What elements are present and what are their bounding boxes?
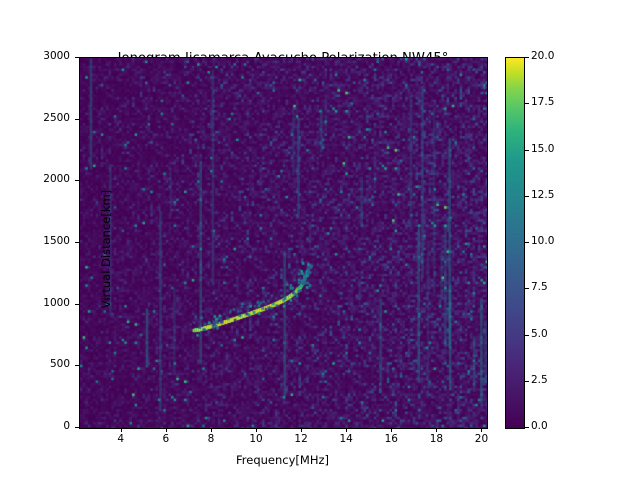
x-tick-label: 20 bbox=[461, 433, 501, 445]
colorbar-tick-label: 2.5 bbox=[531, 374, 548, 386]
y-tick-label: 1000 bbox=[0, 297, 70, 309]
colorbar-tick-label: 7.5 bbox=[531, 281, 548, 293]
x-tick-label: 6 bbox=[146, 433, 186, 445]
colorbar-tick-label: 0.0 bbox=[531, 420, 548, 432]
y-tick-mark bbox=[75, 57, 79, 58]
y-tick-mark bbox=[75, 304, 79, 305]
colorbar-tick-mark bbox=[525, 427, 529, 428]
x-tick-label: 8 bbox=[191, 433, 231, 445]
x-tick-mark bbox=[121, 428, 122, 432]
colorbar-tick-label: 15.0 bbox=[531, 143, 554, 155]
colorbar-tick-mark bbox=[525, 335, 529, 336]
colorbar-tick-label: 5.0 bbox=[531, 328, 548, 340]
ionogram-figure: Ionogram Jicamarca-Ayacucho Polarization… bbox=[0, 0, 640, 480]
x-tick-label: 12 bbox=[281, 433, 321, 445]
y-tick-label: 1500 bbox=[0, 235, 70, 247]
colorbar-tick-mark bbox=[525, 57, 529, 58]
colorbar-tick-mark bbox=[525, 381, 529, 382]
colorbar-tick-mark bbox=[525, 288, 529, 289]
x-tick-mark bbox=[391, 428, 392, 432]
y-tick-label: 500 bbox=[0, 358, 70, 370]
x-tick-label: 16 bbox=[371, 433, 411, 445]
x-tick-label: 4 bbox=[101, 433, 141, 445]
x-tick-label: 14 bbox=[326, 433, 366, 445]
x-tick-label: 10 bbox=[236, 433, 276, 445]
colorbar-tick-mark bbox=[525, 196, 529, 197]
colorbar-tick-label: 17.5 bbox=[531, 96, 554, 108]
y-tick-mark bbox=[75, 242, 79, 243]
x-tick-mark bbox=[256, 428, 257, 432]
y-tick-mark bbox=[75, 180, 79, 181]
x-tick-label: 18 bbox=[416, 433, 456, 445]
x-tick-mark bbox=[211, 428, 212, 432]
y-tick-mark bbox=[75, 365, 79, 366]
y-tick-label: 0 bbox=[0, 420, 70, 432]
y-tick-label: 3000 bbox=[0, 50, 70, 62]
x-tick-mark bbox=[301, 428, 302, 432]
colorbar-tick-mark bbox=[525, 103, 529, 104]
x-tick-mark bbox=[436, 428, 437, 432]
x-tick-mark bbox=[346, 428, 347, 432]
colorbar-tick-label: 10.0 bbox=[531, 235, 554, 247]
plot-area bbox=[79, 57, 488, 429]
echo-trace-overlay bbox=[80, 58, 487, 428]
colorbar-tick-mark bbox=[525, 150, 529, 151]
y-axis-label: Virtual Distance[km] bbox=[99, 64, 113, 434]
colorbar-tick-label: 20.0 bbox=[531, 50, 554, 62]
y-tick-label: 2500 bbox=[0, 112, 70, 124]
y-tick-mark bbox=[75, 427, 79, 428]
y-tick-label: 2000 bbox=[0, 173, 70, 185]
colorbar-tick-mark bbox=[525, 242, 529, 243]
colorbar-tick-label: 12.5 bbox=[531, 189, 554, 201]
y-tick-mark bbox=[75, 119, 79, 120]
x-axis-label: Frequency[MHz] bbox=[79, 453, 486, 467]
x-tick-mark bbox=[166, 428, 167, 432]
x-tick-mark bbox=[481, 428, 482, 432]
colorbar bbox=[505, 57, 525, 429]
